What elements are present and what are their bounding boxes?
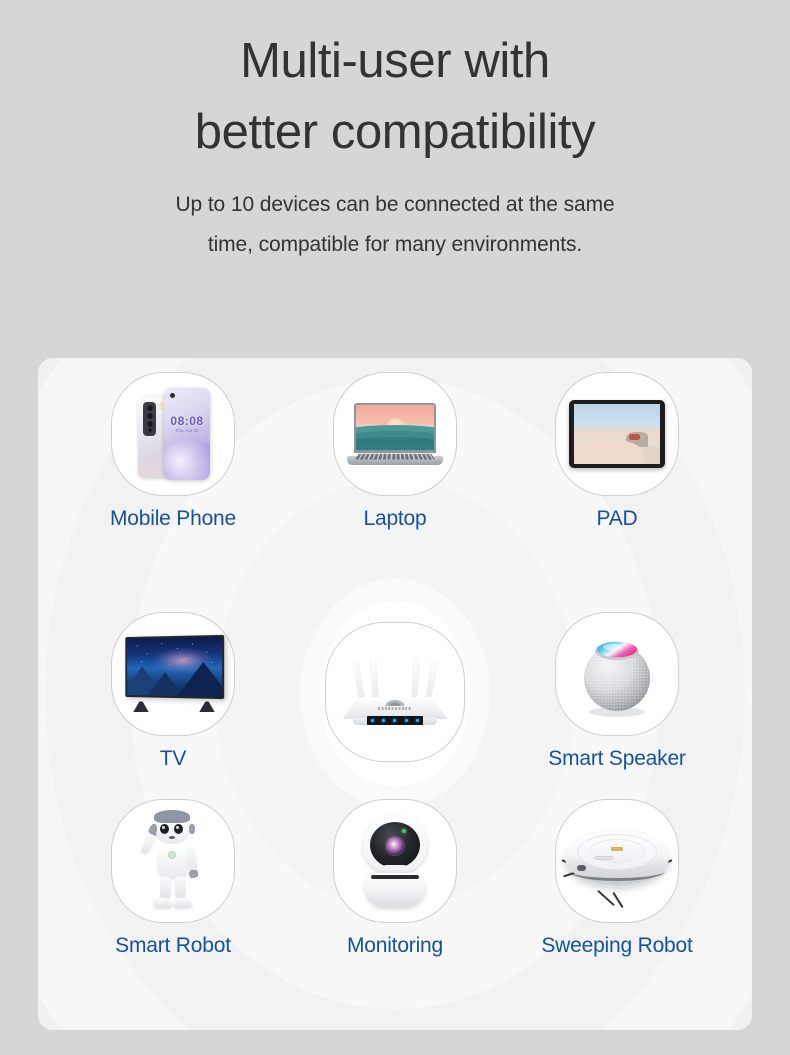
television-icon: [119, 636, 227, 712]
device-cell-sweeping-robot[interactable]: Sweeping Robot: [506, 799, 728, 1012]
device-cell-smart-robot[interactable]: Smart Robot: [62, 799, 284, 1012]
page-subtitle-line-2: time, compatible for many environments.: [0, 225, 790, 265]
robot-vacuum-icon: [565, 825, 669, 897]
device-grid: 08:08 Thu, Apr 30 Mobile Phone: [38, 358, 752, 1030]
phone-clock-date: Thu, Apr 30: [164, 428, 210, 433]
device-bubble-monitoring[interactable]: [333, 799, 457, 923]
page-title-line-1: Multi-user with: [0, 26, 790, 97]
device-cell-tv[interactable]: TV: [62, 585, 284, 798]
device-label-monitoring: Monitoring: [347, 934, 443, 958]
device-bubble-smart-speaker[interactable]: [555, 612, 679, 736]
device-bubble-laptop[interactable]: [333, 372, 457, 496]
device-bubble-mobile-phone[interactable]: 08:08 Thu, Apr 30: [111, 372, 235, 496]
device-bubble-router[interactable]: [325, 622, 465, 762]
wifi-router-icon: [339, 649, 451, 735]
device-label-mobile-phone: Mobile Phone: [110, 507, 236, 531]
smartphone-icon: 08:08 Thu, Apr 30: [136, 388, 210, 480]
device-cell-mobile-phone[interactable]: 08:08 Thu, Apr 30 Mobile Phone: [62, 372, 284, 585]
security-camera-icon: [355, 815, 435, 907]
device-cell-monitoring[interactable]: Monitoring: [284, 799, 506, 1012]
header: Multi-user with better compatibility Up …: [0, 0, 790, 265]
device-label-smart-speaker: Smart Speaker: [548, 747, 685, 771]
device-bubble-pad[interactable]: [555, 372, 679, 496]
device-cell-smart-speaker[interactable]: Smart Speaker: [506, 585, 728, 798]
device-label-pad: PAD: [596, 507, 637, 531]
laptop-icon: [347, 403, 443, 465]
device-cell-laptop[interactable]: Laptop: [284, 372, 506, 585]
device-label-sweeping-robot: Sweeping Robot: [541, 934, 692, 958]
tablet-icon: [569, 400, 665, 468]
humanoid-robot-icon: [141, 812, 205, 910]
page-subtitle-line-1: Up to 10 devices can be connected at the…: [0, 185, 790, 225]
smart-speaker-icon: [571, 628, 663, 720]
device-cell-router[interactable]: [284, 585, 506, 798]
device-compatibility-card: 08:08 Thu, Apr 30 Mobile Phone: [38, 358, 752, 1030]
device-bubble-smart-robot[interactable]: [111, 799, 235, 923]
device-cell-pad[interactable]: PAD: [506, 372, 728, 585]
device-bubble-sweeping-robot[interactable]: [555, 799, 679, 923]
device-bubble-tv[interactable]: [111, 612, 235, 736]
device-label-smart-robot: Smart Robot: [115, 934, 231, 958]
phone-clock-time: 08:08: [164, 414, 210, 428]
device-label-laptop: Laptop: [363, 507, 426, 531]
page-title-line-2: better compatibility: [0, 97, 790, 168]
device-label-tv: TV: [160, 747, 186, 771]
